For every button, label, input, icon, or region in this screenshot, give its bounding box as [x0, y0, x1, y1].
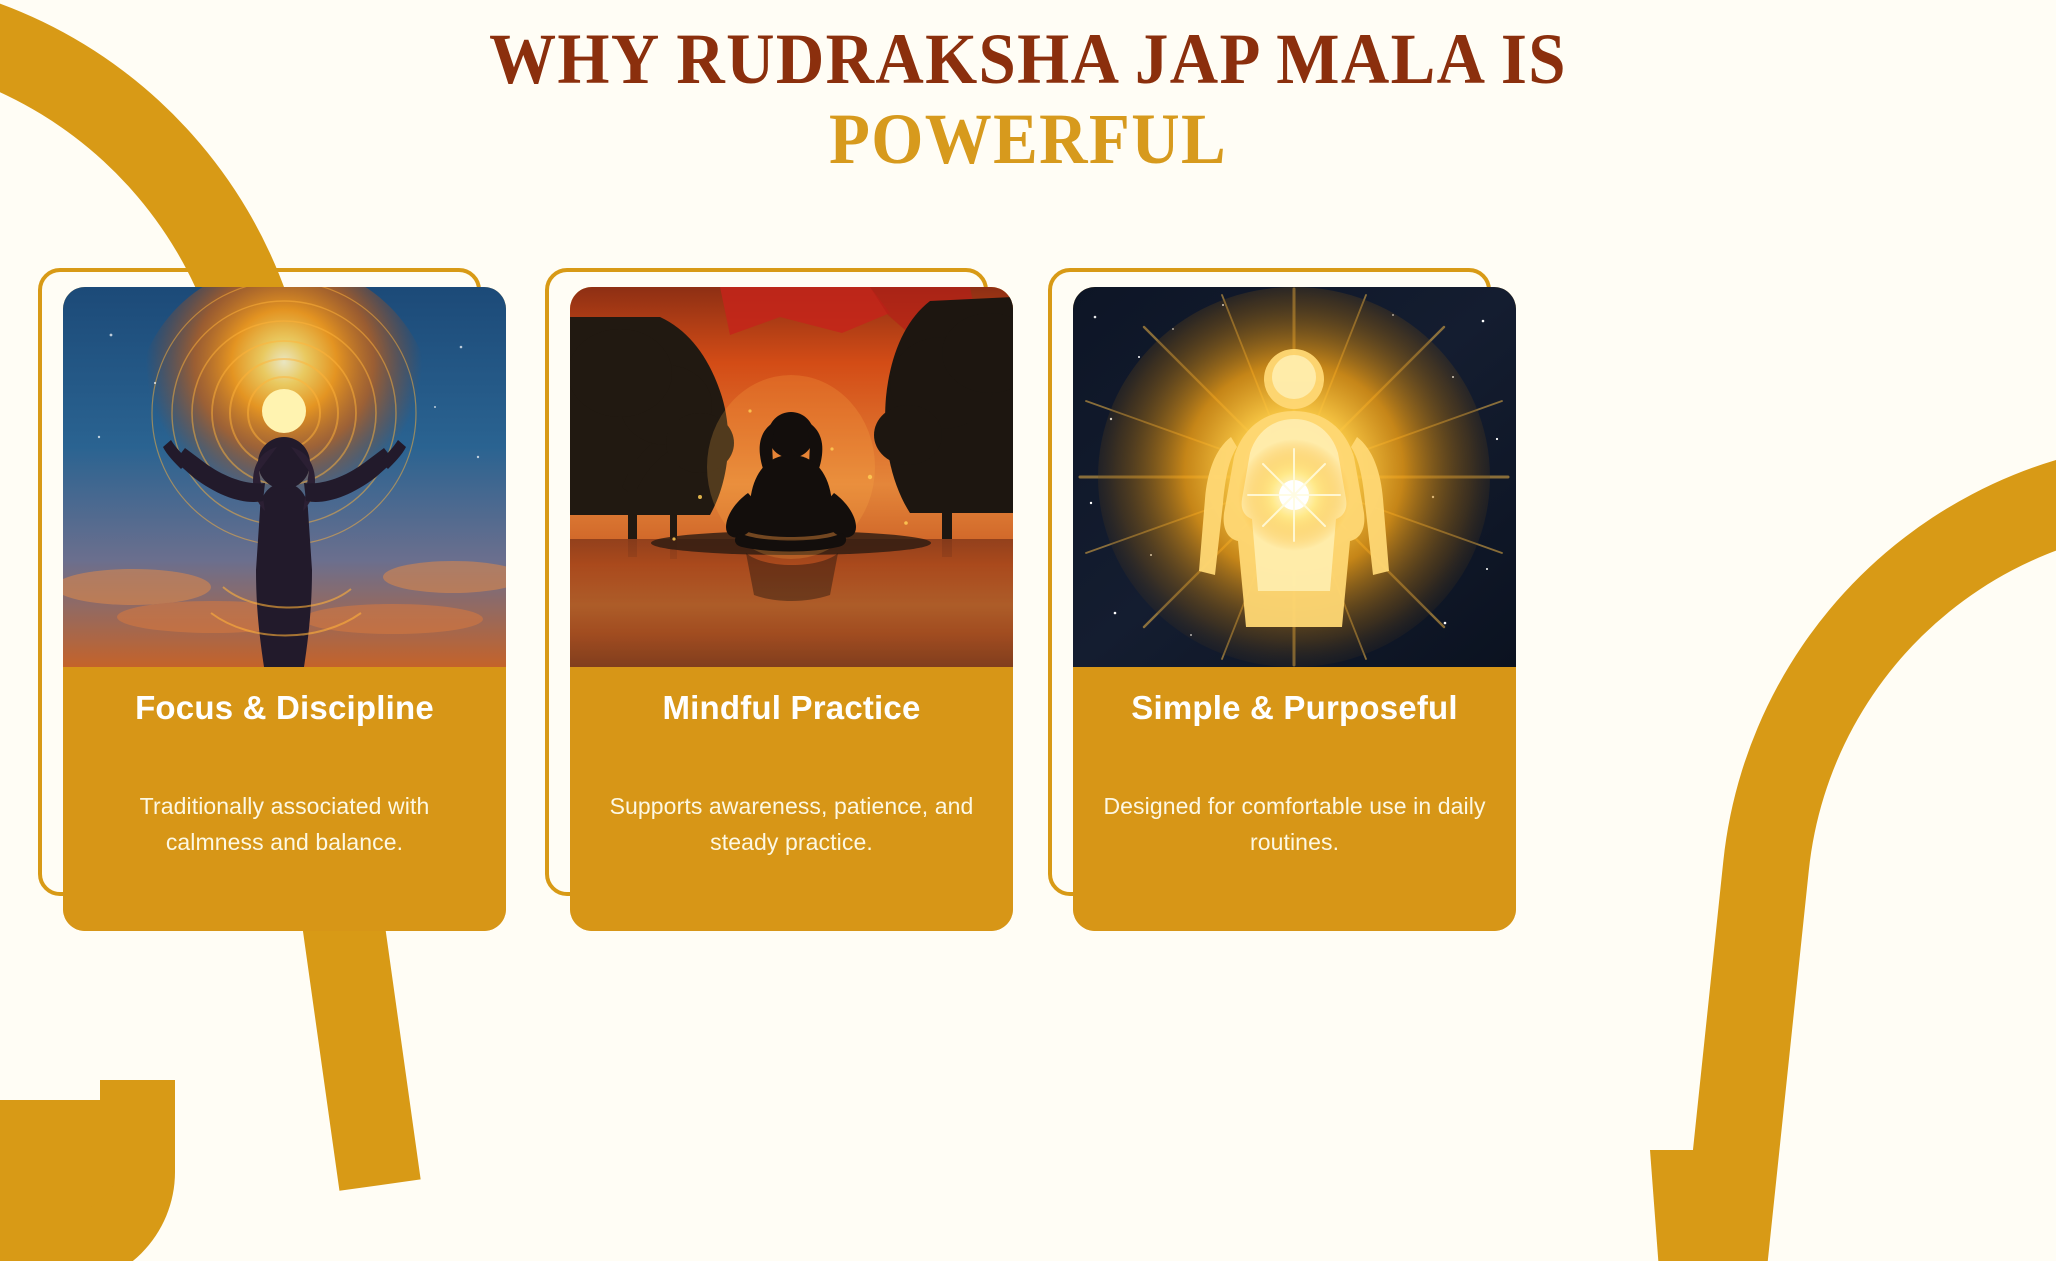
feature-cards-row: Focus & Discipline Traditionally associa… — [0, 268, 2056, 1198]
card-title: Focus & Discipline — [89, 689, 480, 727]
card-title: Simple & Purposeful — [1099, 689, 1490, 727]
woman-arms-raised-golden-sun-spiral-icon — [63, 287, 506, 667]
silhouette-meditating-lotus-orange-sunset-lake-icon — [570, 287, 1013, 667]
card-description: Supports awareness, patience, and steady… — [596, 789, 987, 860]
page-title-line-2: POWERFUL — [72, 102, 1984, 178]
card-text-panel: Mindful Practice Supports awareness, pat… — [570, 667, 1013, 931]
card-surface[interactable]: Focus & Discipline Traditionally associa… — [63, 287, 506, 931]
card-text-panel: Focus & Discipline Traditionally associa… — [63, 667, 506, 931]
card-text-panel: Simple & Purposeful Designed for comfort… — [1073, 667, 1516, 931]
card-surface[interactable]: Mindful Practice Supports awareness, pat… — [570, 287, 1013, 931]
feature-card-3[interactable]: Simple & Purposeful Designed for comfort… — [1048, 268, 1516, 1198]
feature-card-2[interactable]: Mindful Practice Supports awareness, pat… — [545, 268, 1013, 1198]
page-title-line-1: WHY RUDRAKSHA JAP MALA IS — [72, 22, 1984, 98]
card-surface[interactable]: Simple & Purposeful Designed for comfort… — [1073, 287, 1516, 931]
glowing-human-aura-radiant-light-starfield-icon — [1073, 287, 1516, 667]
infographic-canvas: WHY RUDRAKSHA JAP MALA IS POWERFUL — [0, 0, 2056, 1261]
page-header: WHY RUDRAKSHA JAP MALA IS POWERFUL — [0, 22, 2056, 177]
card-image — [1073, 287, 1516, 667]
card-image — [63, 287, 506, 667]
card-image — [570, 287, 1013, 667]
feature-card-1[interactable]: Focus & Discipline Traditionally associa… — [38, 268, 506, 1198]
card-title: Mindful Practice — [596, 689, 987, 727]
card-description: Designed for comfortable use in daily ro… — [1099, 789, 1490, 860]
card-description: Traditionally associated with calmness a… — [89, 789, 480, 860]
